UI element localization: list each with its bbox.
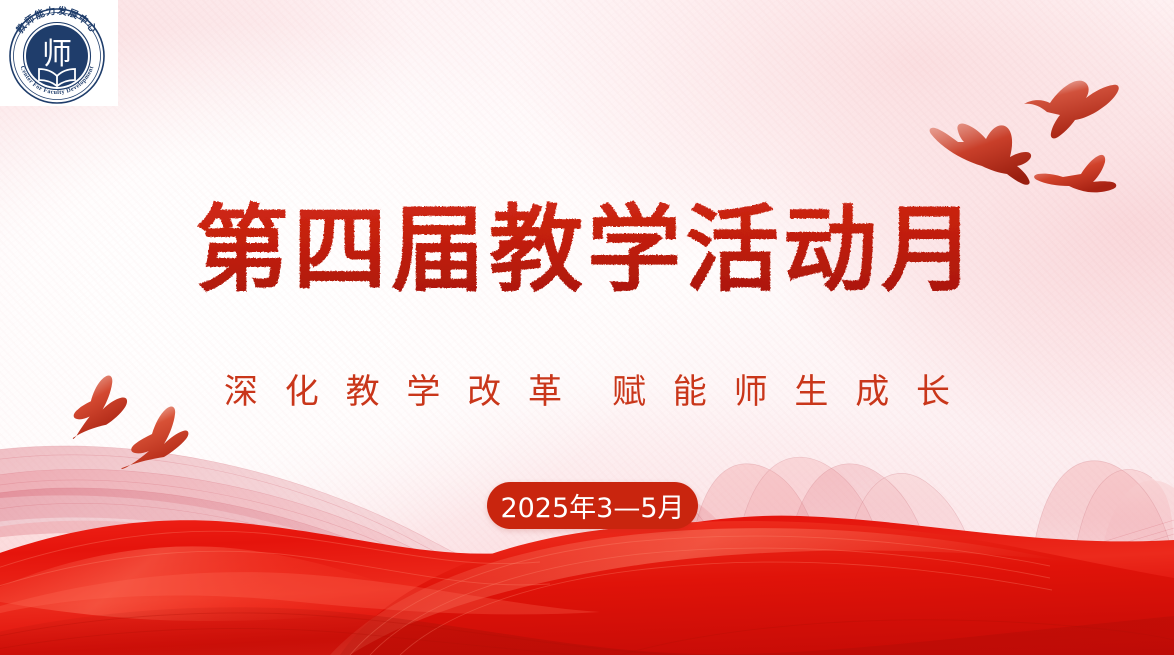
main-title: 第四届教学活动月	[0, 186, 1174, 310]
logo-center-character: 师	[42, 37, 72, 72]
faculty-development-center-logo: 教师能力发展中心 Center For Faculty Development …	[6, 4, 108, 104]
poster-subtitle: 深 化 教 学 改 革 赋 能 师 生 成 长	[0, 370, 1174, 414]
date-badge-label: 2025年3—5月	[500, 486, 684, 525]
background-grain-texture	[0, 0, 1174, 655]
date-badge: 2025年3—5月	[487, 482, 698, 529]
main-title-calligraphy: 第四届教学活动月	[192, 186, 982, 310]
poster-canvas: 教师能力发展中心 Center For Faculty Development …	[0, 0, 1174, 655]
main-title-text: 第四届教学活动月	[195, 196, 979, 305]
